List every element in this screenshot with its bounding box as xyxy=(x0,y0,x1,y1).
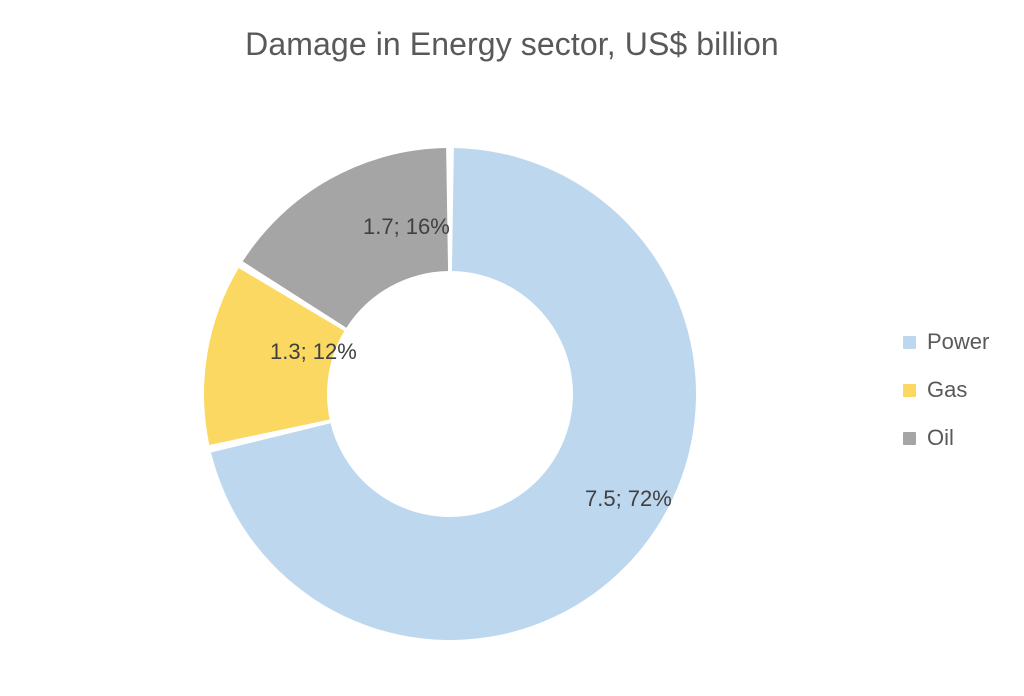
donut-slices xyxy=(204,148,696,640)
data-label-oil: 1.7; 16% xyxy=(363,214,450,239)
legend-item-power[interactable]: Power xyxy=(903,318,1021,366)
legend-label-oil: Oil xyxy=(927,425,954,451)
legend-item-gas[interactable]: Gas xyxy=(903,366,1021,414)
chart-title: Damage in Energy sector, US$ billion xyxy=(0,24,1024,64)
data-label-power: 7.5; 72% xyxy=(585,486,672,511)
legend-swatch-gas-icon xyxy=(903,384,916,397)
legend-item-oil[interactable]: Oil xyxy=(903,414,1021,462)
legend-swatch-power-icon xyxy=(903,336,916,349)
legend-swatch-oil-icon xyxy=(903,432,916,445)
chart-legend: Power Gas Oil xyxy=(903,318,1021,462)
legend-label-gas: Gas xyxy=(927,377,967,403)
legend-label-power: Power xyxy=(927,329,989,355)
chart-container: Damage in Energy sector, US$ billion 7.5… xyxy=(0,0,1024,696)
donut-chart: 7.5; 72% 1.3; 12% 1.7; 16% xyxy=(180,124,720,664)
donut-plot-area: 7.5; 72% 1.3; 12% 1.7; 16% xyxy=(180,124,720,664)
data-label-gas: 1.3; 12% xyxy=(270,339,357,364)
